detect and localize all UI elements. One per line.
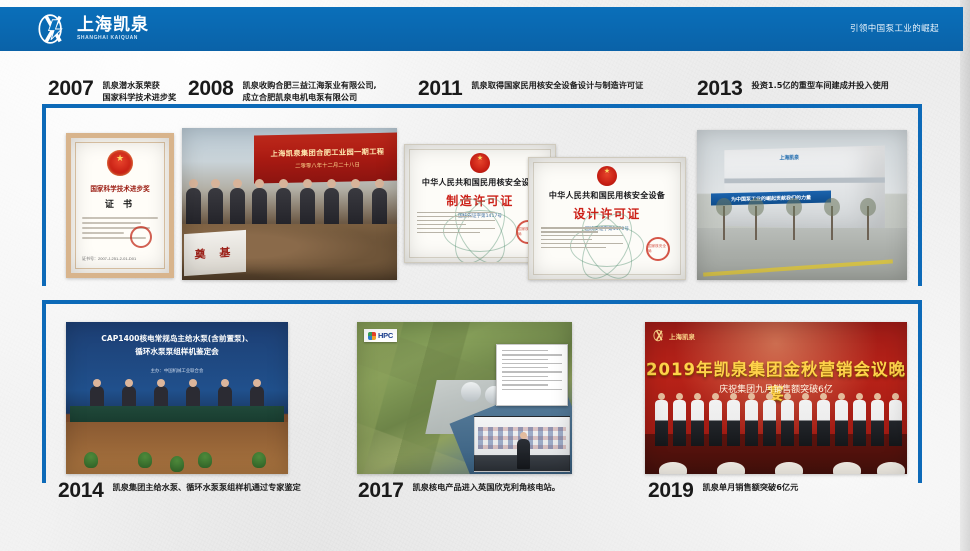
timeline-entry-2013: 2013 投资1.5亿的重型车间建成并投入使用: [697, 78, 889, 100]
national-emblem-icon: [107, 150, 133, 176]
national-emblem-icon: [597, 166, 617, 186]
building-window-band: [724, 177, 885, 183]
brand-logo[interactable]: 上海凯泉 SHANGHAI KAIQUAN: [37, 13, 149, 45]
reactor-dome: [461, 382, 481, 402]
foundation-stone: 奠 基: [184, 230, 246, 276]
year-description: 凯泉收购合肥三益江海泵业有限公司, 成立合肥凯泉电机电泵有限公司: [243, 80, 377, 103]
year-label: 2014: [58, 480, 104, 502]
year-label: 2011: [418, 78, 462, 100]
page-header: 上海凯泉 SHANGHAI KAIQUAN 引领中国泵工业的崛起: [0, 7, 963, 51]
photo-design-licence-2011[interactable]: 中华人民共和国民用核安全设备 设计许可证 国核安证字第1470号 国家核安全局: [528, 157, 686, 280]
banquet-tables: [651, 456, 901, 474]
brand-name-cn: 上海凯泉: [77, 16, 149, 35]
certificate-body: 国家科学技术进步奖 证 书 证书号：2007-J-251-2-01-D01: [75, 142, 165, 269]
hpc-document-overlay: [496, 344, 568, 406]
year-description: 凯泉核电产品进入英国欣克利角核电站。: [413, 482, 560, 494]
foundation-stone-text: 奠 基: [195, 244, 236, 263]
banner-title: 上海凯泉集团合肥工业园一期工程: [271, 146, 385, 158]
year-description: 凯泉单月销售额突破6亿元: [703, 482, 799, 494]
licence-line1: 中华人民共和国民用核安全设备: [422, 177, 538, 188]
hpc-logo-icon: [368, 332, 376, 340]
licence-text-lines: [541, 227, 623, 250]
national-emblem-icon: [470, 153, 490, 173]
licence-line1: 中华人民共和国民用核安全设备: [549, 190, 665, 201]
timeline-entry-2007: 2007 凯泉潜水泵荣获 国家科学技术进步奖: [48, 78, 176, 103]
licence-seal-icon: 国家核安全局: [646, 237, 670, 261]
year-label: 2013: [697, 78, 743, 100]
hpc-booth-overlay: [474, 416, 570, 472]
hpc-badge-label: HPC: [378, 331, 393, 340]
timeline-entry-2014: 2014 凯泉集团主给水泵、循环水泵泵组样机通过专家鉴定: [58, 480, 301, 502]
year-label: 2017: [358, 480, 404, 502]
timeline-entry-2008: 2008 凯泉收购合肥三益江海泵业有限公司, 成立合肥凯泉电机电泵有限公司: [188, 78, 377, 103]
photo-certificate-2007[interactable]: 国家科学技术进步奖 证 书 证书号：2007-J-251-2-01-D01: [66, 133, 174, 278]
photo-groundbreaking-2008[interactable]: 上海凯泉集团合肥工业园一期工程 二零零八年十二月二十八日 奠 基: [182, 128, 397, 280]
year-label: 2007: [48, 78, 94, 100]
year-description: 凯泉潜水泵荣获 国家科学技术进步奖: [103, 80, 177, 103]
photo-banquet-2019[interactable]: 上海凯泉 2019年凯泉集团金秋营销会议晚宴 庆祝集团九月销售额突破6亿: [645, 322, 907, 474]
year-description: 投资1.5亿的重型车间建成并投入使用: [752, 80, 889, 92]
certificate-footer: 证书号：2007-J-251-2-01-D01: [82, 256, 136, 262]
timeline-entry-2019: 2019 凯泉单月销售额突破6亿元: [648, 480, 798, 502]
kaiquan-logo-icon: [653, 329, 666, 342]
certificate-title: 国家科学技术进步奖: [90, 183, 149, 193]
hpc-badge: HPC: [364, 329, 397, 342]
header-slogan: 引领中国泵工业的崛起: [850, 22, 939, 34]
brand-name-en: SHANGHAI KAIQUAN: [77, 35, 149, 42]
banquet-logo-label: 上海凯泉: [669, 331, 695, 341]
timeline-bottom-labels: 2014 凯泉集团主给水泵、循环水泵泵组样机通过专家鉴定 2017 凯泉核电产品…: [0, 480, 970, 510]
licence-text-lines: [417, 212, 495, 235]
factory-logo: 上海凯泉: [780, 154, 799, 161]
conference-line2: 循环水泵泵组样机鉴定会: [66, 345, 288, 358]
conference-panelists: [72, 384, 282, 408]
banquet-attendees: [649, 398, 903, 446]
year-label: 2008: [188, 78, 234, 100]
banquet-title: 2019年凯泉集团金秋营销会议晚宴: [645, 356, 907, 404]
timeline-entry-2017: 2017 凯泉核电产品进入英国欣克利角核电站。: [358, 480, 560, 502]
year-label: 2019: [648, 480, 694, 502]
certificate-seal-icon: [130, 226, 152, 248]
certificate-heading: 证 书: [105, 197, 135, 210]
timeline-entry-2011: 2011 凯泉取得国家民用核安全设备设计与制造许可证: [418, 78, 643, 100]
kaiquan-logo-icon: [37, 13, 71, 45]
year-description: 凯泉取得国家民用核安全设备设计与制造许可证: [471, 80, 643, 92]
conference-banner: CAP1400核电常规岛主给水泵(含前置泵)、 循环水泵泵组样机鉴定会 主办：中…: [66, 332, 288, 374]
conference-line1: CAP1400核电常规岛主给水泵(含前置泵)、: [66, 332, 288, 345]
photo-hinkley-point-c-2017[interactable]: HPC: [357, 322, 572, 474]
year-description: 凯泉集团主给水泵、循环水泵泵组样机通过专家鉴定: [113, 482, 301, 494]
booth-person: [517, 439, 530, 469]
photo-factory-2013[interactable]: 上海凯泉 为中国泵工业的崛起贡献我们的力量: [697, 130, 907, 280]
banquet-logo: 上海凯泉: [653, 329, 695, 342]
banquet-subtitle: 庆祝集团九月销售额突破6亿: [645, 382, 907, 395]
banner-date: 二零零八年十二月二十八日: [295, 160, 360, 169]
conference-organizer: 主办：中国机械工业联合会: [66, 368, 288, 374]
factory-building: 上海凯泉: [724, 146, 885, 231]
licence-body: 中华人民共和国民用核安全设备 设计许可证 国核安证字第1470号 国家核安全局: [533, 162, 681, 275]
photo-cap1400-conference-2014[interactable]: CAP1400核电常规岛主给水泵(含前置泵)、 循环水泵泵组样机鉴定会 主办：中…: [66, 322, 288, 474]
